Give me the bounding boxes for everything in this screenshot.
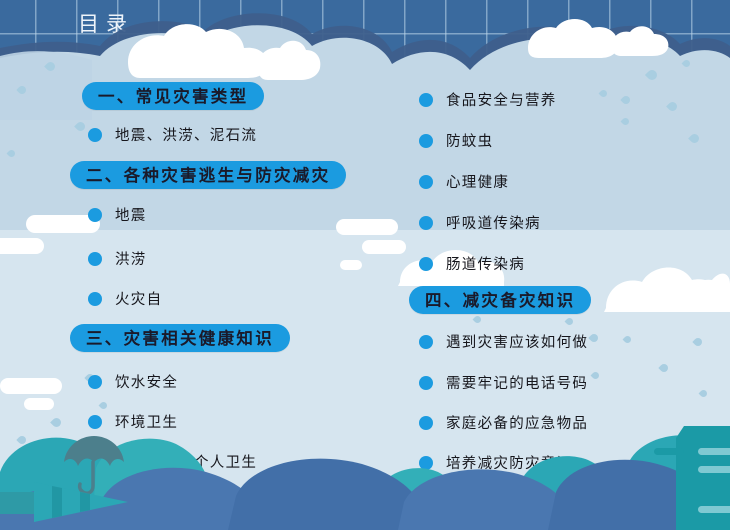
section-heading-1[interactable]: 一、常见灾害类型 (82, 82, 264, 110)
raindrop-icon (99, 401, 109, 411)
list-item[interactable]: 饮水安全 (88, 371, 178, 392)
list-item[interactable]: 洪涝 (88, 248, 147, 269)
list-item-label: 呼吸道传染病 (446, 212, 541, 233)
bullet-dot-icon (419, 216, 433, 230)
section-heading-2[interactable]: 二、各种灾害逃生与防灾减灾 (70, 161, 346, 189)
list-item-label: 家庭必备的应急物品 (446, 412, 588, 433)
list-item-label: 地震、洪涝、泥石流 (115, 124, 257, 145)
list-item-label: 饮水安全 (115, 371, 178, 392)
list-item[interactable]: 心理健康 (419, 171, 509, 192)
raindrop-icon (658, 362, 669, 373)
bullet-dot-icon (419, 456, 433, 470)
bullet-dot-icon (88, 208, 102, 222)
list-item-label: 需要牢记的电话号码 (446, 372, 588, 393)
list-item-label: 心理健康 (446, 171, 509, 192)
list-item-label: 防蚊虫 (446, 130, 493, 151)
raindrop-icon (7, 149, 17, 159)
raindrop-icon (16, 434, 27, 445)
teal-hills (0, 435, 730, 530)
cloud-icon (24, 398, 54, 410)
raindrop-icon (50, 416, 63, 429)
list-item-label: 肠道传染病 (446, 253, 525, 274)
list-item-label: 环境卫生 (115, 411, 178, 432)
raindrop-icon (74, 120, 87, 133)
section-heading-4[interactable]: 四、减灾备灾知识 (409, 286, 591, 314)
bullet-dot-icon (419, 416, 433, 430)
building-icon (654, 426, 730, 530)
list-item[interactable]: 卫生厕所和个人卫生 (88, 451, 257, 472)
list-item-label: 洪涝 (115, 248, 147, 269)
raindrop-icon (70, 448, 81, 459)
bullet-dot-icon (419, 335, 433, 349)
raindrop-icon (688, 132, 701, 145)
list-item[interactable]: 环境卫生 (88, 411, 178, 432)
raindrop-icon (623, 335, 633, 345)
cloud-icon (0, 378, 62, 394)
list-item-label: 遇到灾害应该如何做 (446, 331, 588, 352)
list-item[interactable]: 培养减灾防灾意识 (419, 452, 572, 473)
raindrop-icon (699, 389, 709, 399)
list-item[interactable]: 家庭必备的应急物品 (419, 412, 588, 433)
list-item[interactable]: 需要牢记的电话号码 (419, 372, 588, 393)
raindrop-icon (692, 336, 703, 347)
raindrop-icon (591, 371, 601, 381)
list-item-label: 培养减灾防灾意识 (446, 452, 572, 473)
list-item[interactable]: 地震 (88, 204, 147, 225)
list-item-label: 地震 (115, 204, 147, 225)
bullet-dot-icon (88, 292, 102, 306)
cloud-icon (336, 219, 398, 235)
cloud-icon (340, 260, 362, 270)
bullet-dot-icon (419, 376, 433, 390)
list-item[interactable]: 遇到灾害应该如何做 (419, 331, 588, 352)
list-item[interactable]: 火灾自 (88, 288, 162, 309)
page-title: 目录 (78, 8, 134, 38)
bullet-dot-icon (419, 134, 433, 148)
list-item[interactable]: 食品安全与营养 (419, 89, 557, 110)
bullet-dot-icon (88, 375, 102, 389)
bullet-dot-icon (419, 93, 433, 107)
list-item-label: 食品安全与营养 (446, 89, 557, 110)
bullet-dot-icon (88, 252, 102, 266)
list-item-label: 火灾自 (115, 288, 162, 309)
list-item[interactable]: 防蚊虫 (419, 130, 493, 151)
bullet-dot-icon (419, 175, 433, 189)
raindrop-icon (473, 315, 483, 325)
raindrop-icon (588, 332, 599, 343)
cloud-icon (362, 240, 406, 254)
bullet-dot-icon (419, 257, 433, 271)
list-item[interactable]: 地震、洪涝、泥石流 (88, 124, 257, 145)
raindrop-icon (565, 317, 575, 327)
list-item[interactable]: 呼吸道传染病 (419, 212, 541, 233)
boat-icon (0, 482, 128, 522)
section-heading-3[interactable]: 三、灾害相关健康知识 (70, 324, 290, 352)
bullet-dot-icon (88, 455, 102, 469)
slide-canvas: 目录 (0, 0, 730, 530)
cloud-icon (0, 238, 44, 254)
list-item[interactable]: 肠道传染病 (419, 253, 525, 274)
bullet-dot-icon (88, 128, 102, 142)
bullet-dot-icon (88, 415, 102, 429)
list-item-label: 卫生厕所和个人卫生 (115, 451, 257, 472)
